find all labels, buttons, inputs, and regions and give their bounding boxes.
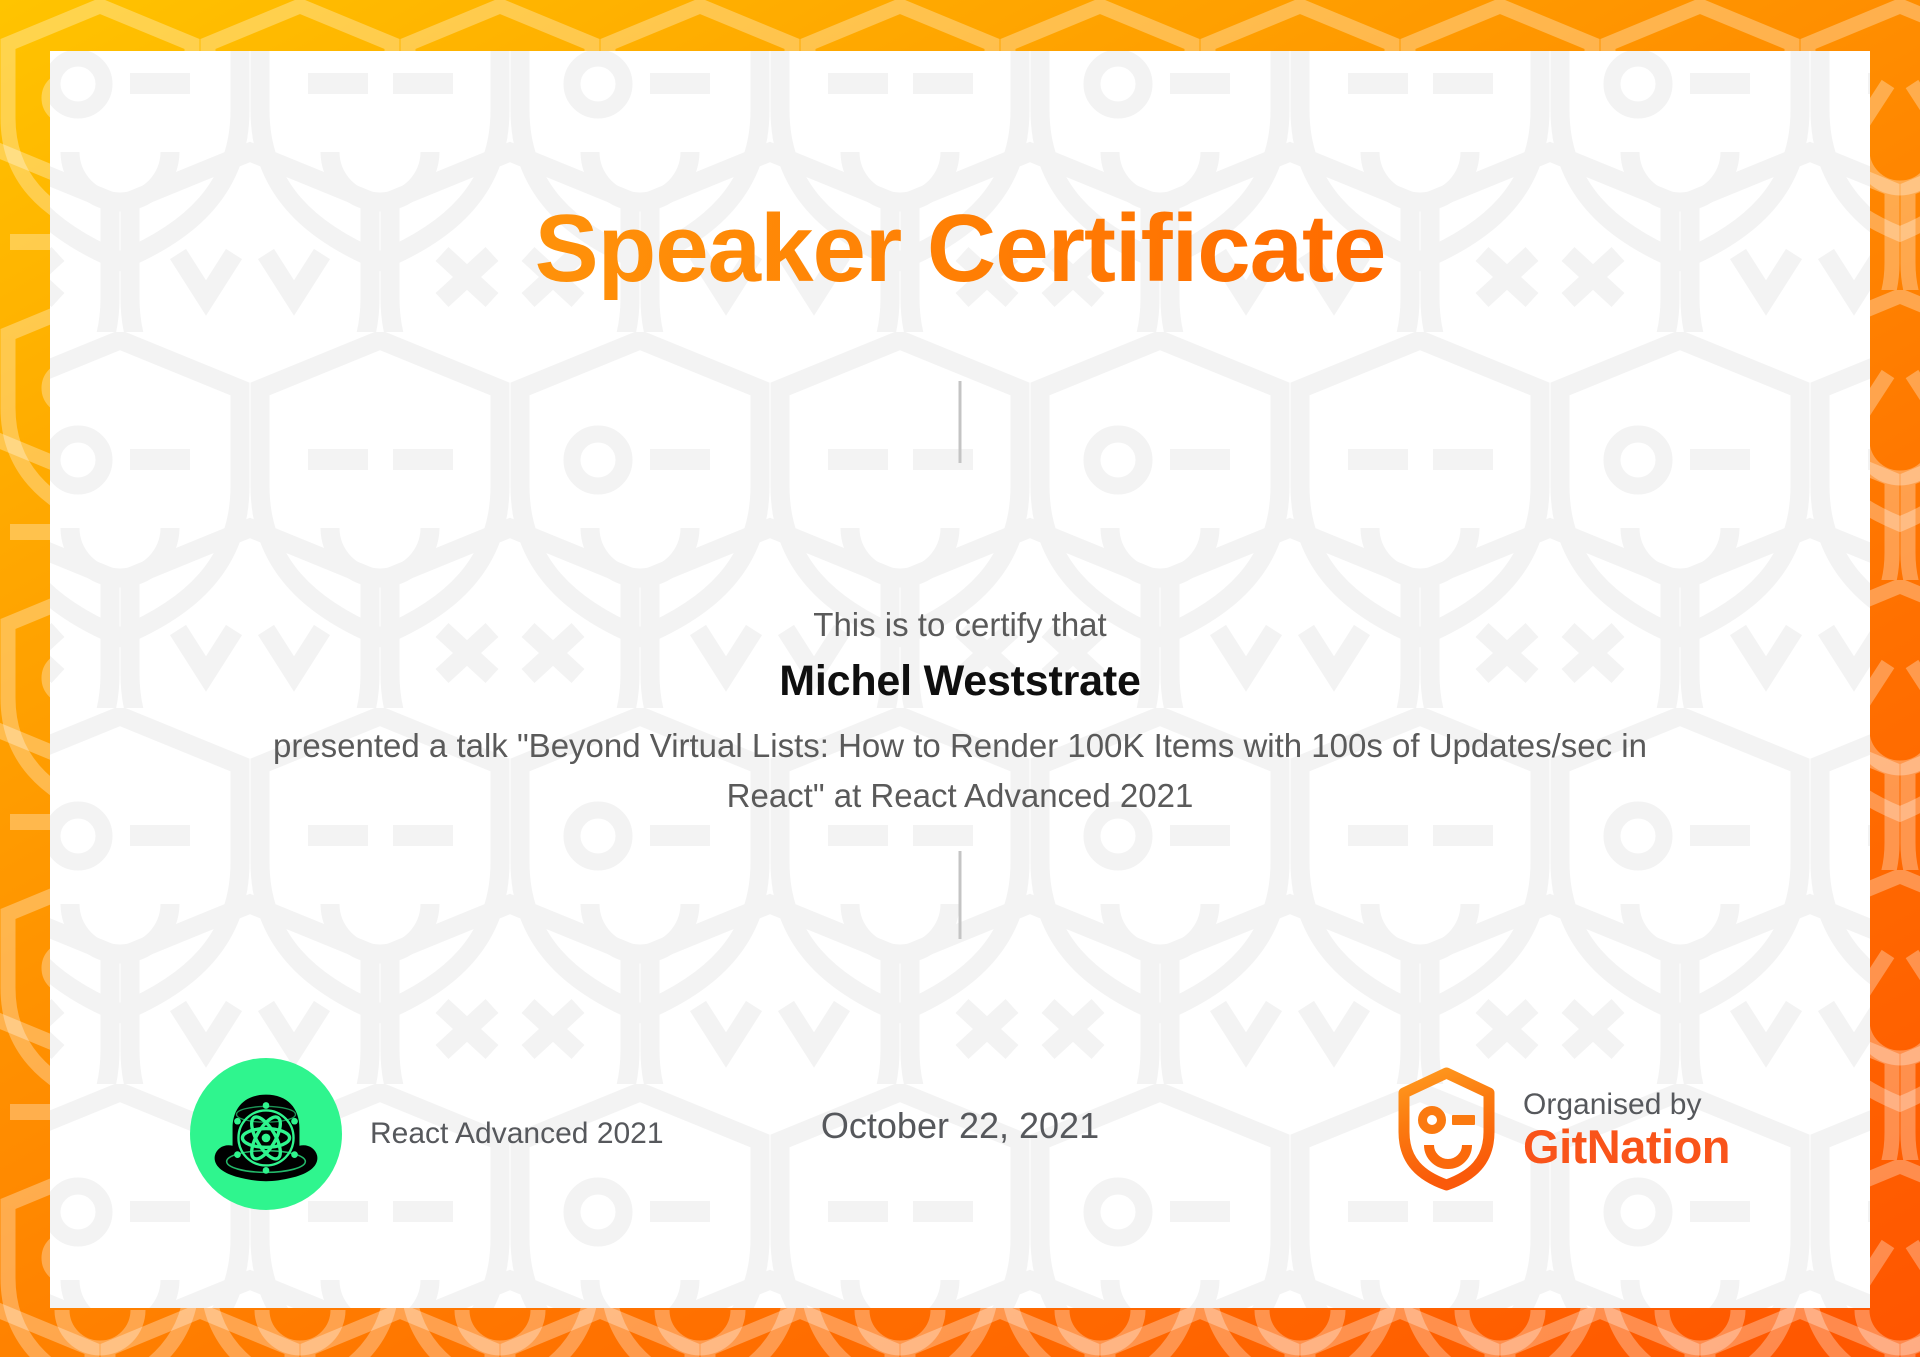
recipient-name: Michel Weststrate — [50, 657, 1870, 706]
talk-description: presented a talk "Beyond Virtual Lists: … — [240, 721, 1680, 821]
certificate-page: Speaker Certificate This is to certify t… — [0, 0, 1920, 1357]
certificate-card: Speaker Certificate This is to certify t… — [50, 51, 1870, 1308]
organised-by-label: Organised by — [1523, 1088, 1730, 1122]
organiser-block: Organised by GitNation — [1394, 1066, 1730, 1196]
event-name-label: React Advanced 2021 — [370, 1117, 664, 1151]
gitnation-shield-face-icon — [1394, 1066, 1499, 1196]
organiser-text: Organised by GitNation — [1523, 1088, 1730, 1174]
react-bowler-hat-icon — [190, 1058, 342, 1210]
divider-top — [959, 381, 962, 463]
event-badge: React Advanced 2021 — [190, 1058, 664, 1210]
certificate-footer: React Advanced 2021 October 22, 2021 — [50, 1048, 1870, 1308]
certify-line: This is to certify that — [50, 606, 1870, 644]
issue-date: October 22, 2021 — [821, 1105, 1099, 1147]
organiser-name: GitNation — [1523, 1121, 1730, 1174]
page-title: Speaker Certificate — [50, 199, 1870, 300]
divider-bottom — [959, 851, 962, 939]
